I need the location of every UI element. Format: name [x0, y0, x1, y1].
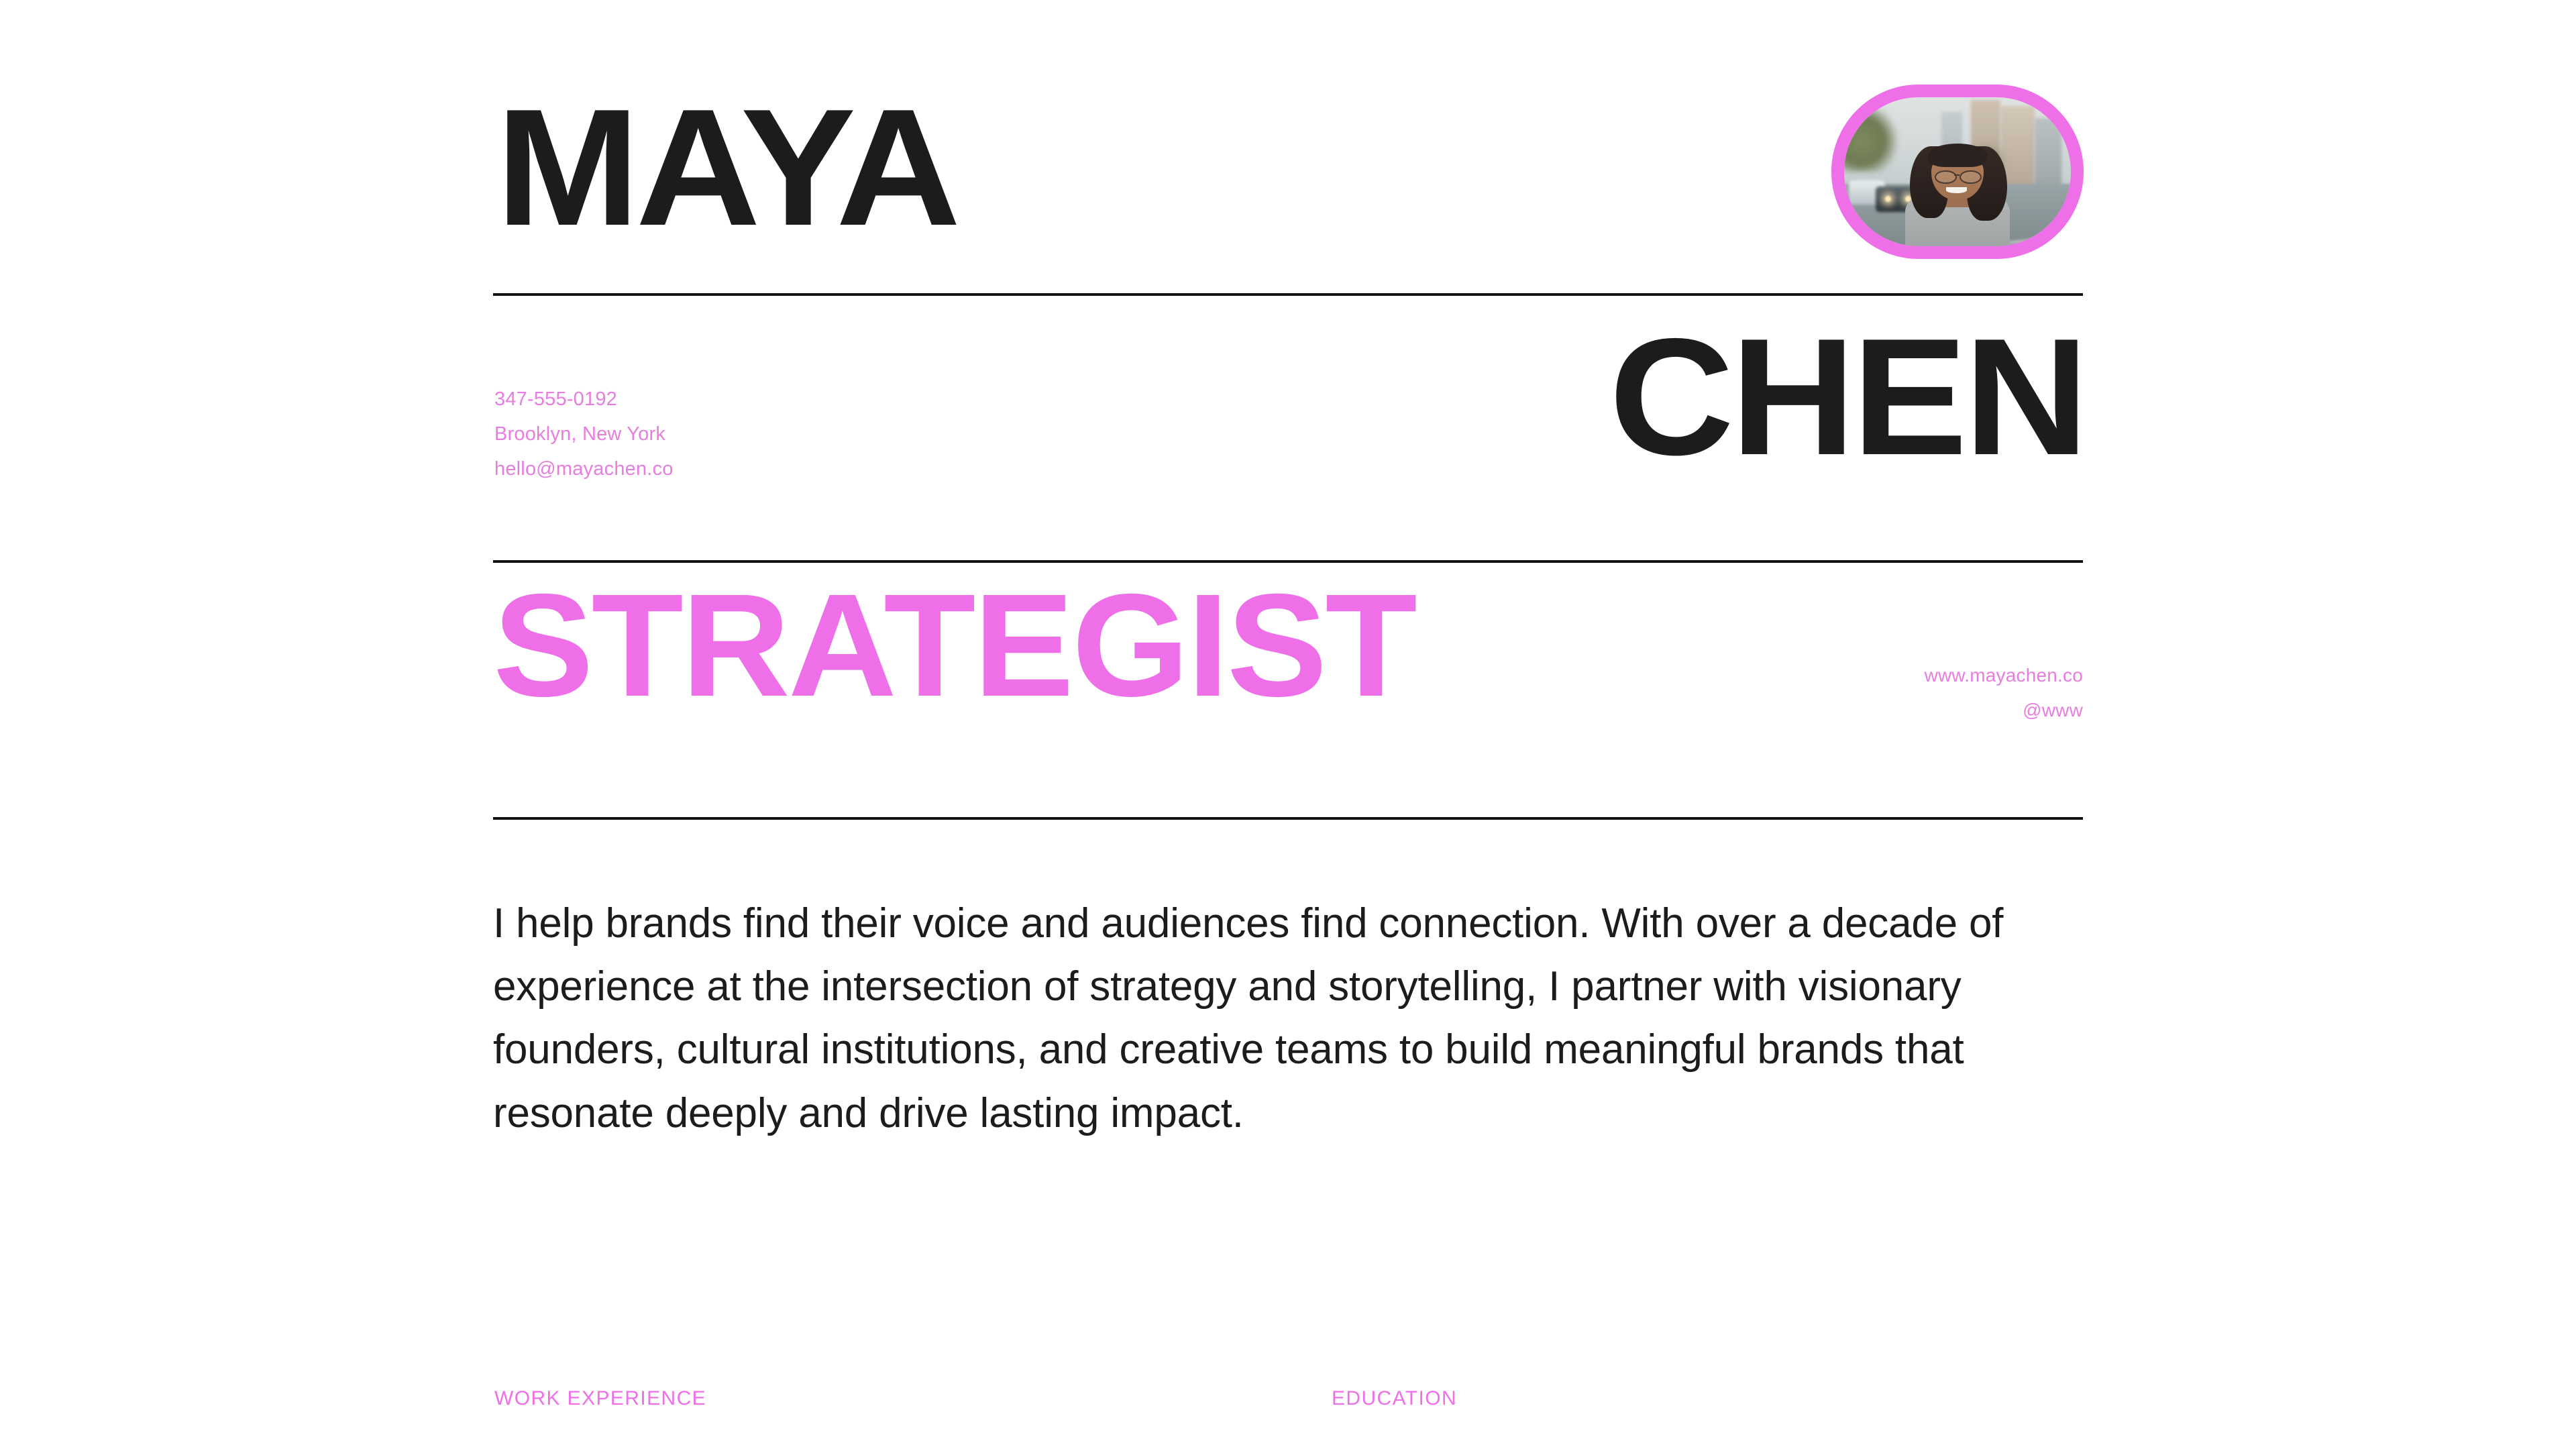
photo-subject-glasses-bridge	[1954, 174, 1960, 176]
divider-middle	[493, 560, 2083, 563]
divider-top	[493, 293, 2083, 296]
profile-photo	[1844, 97, 2071, 246]
website-link[interactable]: www.mayachen.co	[1925, 658, 2083, 693]
last-name-heading: CHEN	[1609, 329, 2086, 465]
photo-building	[2035, 118, 2062, 193]
photo-tree	[1844, 103, 1898, 172]
contact-block: 347-555-0192 Brooklyn, New York hello@ma…	[494, 382, 674, 487]
contact-email[interactable]: hello@mayachen.co	[494, 452, 674, 487]
section-headings-row: WORK EXPERIENCE EDUCATION	[493, 1387, 2083, 1428]
photo-headlight	[1885, 196, 1891, 202]
links-block: www.mayachen.co @www	[1925, 658, 2083, 728]
contact-phone[interactable]: 347-555-0192	[494, 382, 674, 417]
section-label-work-experience: WORK EXPERIENCE	[494, 1387, 706, 1410]
social-handle[interactable]: @www	[1925, 693, 2083, 728]
profile-summary: I help brands find their voice and audie…	[493, 892, 2090, 1145]
role-title: STRATEGIST	[493, 583, 1415, 708]
contact-location: Brooklyn, New York	[494, 417, 674, 452]
profile-photo-frame	[1831, 85, 2084, 259]
resume-page: MAYA	[0, 0, 2576, 1449]
photo-subject-smile	[1946, 187, 1966, 193]
photo-subject-hair	[1928, 144, 1987, 168]
contact-and-surname-row: 347-555-0192 Brooklyn, New York hello@ma…	[493, 309, 2083, 557]
first-name-heading: MAYA	[496, 99, 957, 235]
divider-bottom	[493, 817, 2083, 820]
header-name-row: MAYA	[493, 67, 2083, 268]
resume-content-column: MAYA	[493, 0, 2083, 1449]
section-label-education: EDUCATION	[1332, 1387, 1457, 1410]
photo-subject-glasses	[1935, 170, 1957, 184]
role-and-links-row: STRATEGIST www.mayachen.co @www	[493, 574, 2083, 808]
